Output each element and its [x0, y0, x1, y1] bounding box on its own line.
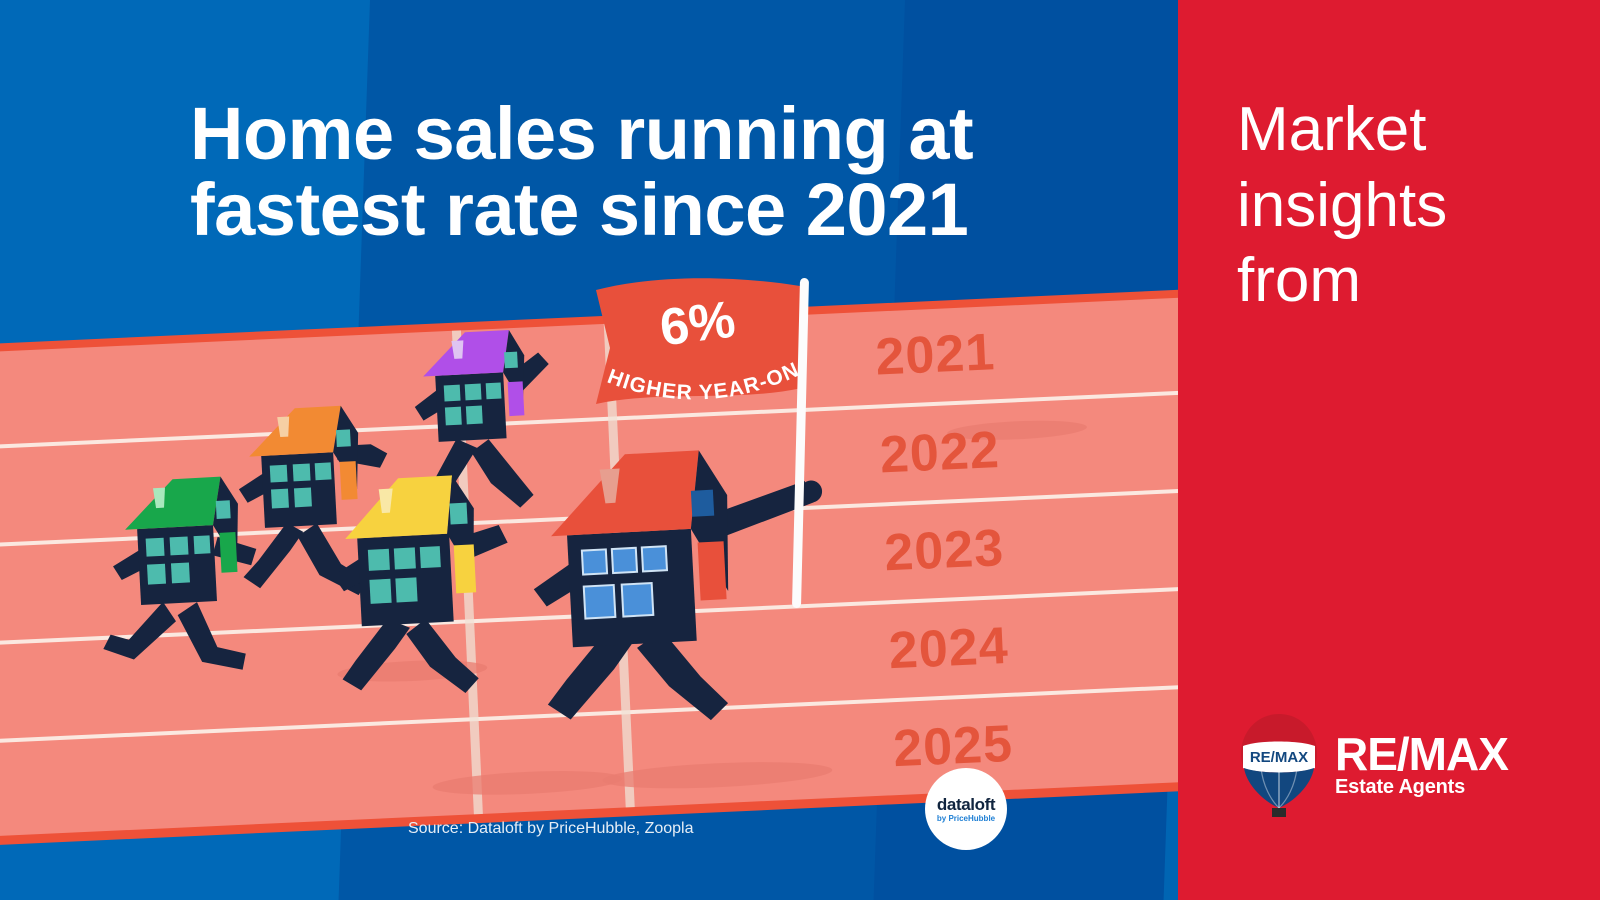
dataloft-wordmark: dataloft — [937, 796, 995, 813]
flag-percent: 6% — [657, 290, 739, 359]
pricehubble-brand: PriceHubble — [948, 814, 995, 823]
dataloft-by-text: by — [937, 814, 949, 823]
source-attribution: Source: Dataloft by PriceHubble, Zoopla — [408, 820, 693, 838]
house-green — [95, 475, 263, 677]
panel-title: Market insights from — [1237, 92, 1577, 319]
remax-logo: RE/MAX RE/MAX Estate Agents — [1237, 712, 1508, 820]
milestone-flag: HIGHER YEAR-ON-YEAR 6% — [588, 272, 848, 612]
dataloft-byline: by PriceHubble — [937, 815, 995, 823]
page-title: Home sales running at fastest rate since… — [190, 96, 1020, 248]
remax-balloon-icon: RE/MAX — [1237, 712, 1321, 820]
remax-wordmark: RE/MAX — [1335, 733, 1508, 775]
dataloft-logo: dataloft by PriceHubble — [925, 768, 1007, 850]
infographic-canvas: 2021 2022 2023 2024 2025 — [0, 0, 1600, 900]
balloon-wordmark: RE/MAX — [1250, 749, 1308, 766]
